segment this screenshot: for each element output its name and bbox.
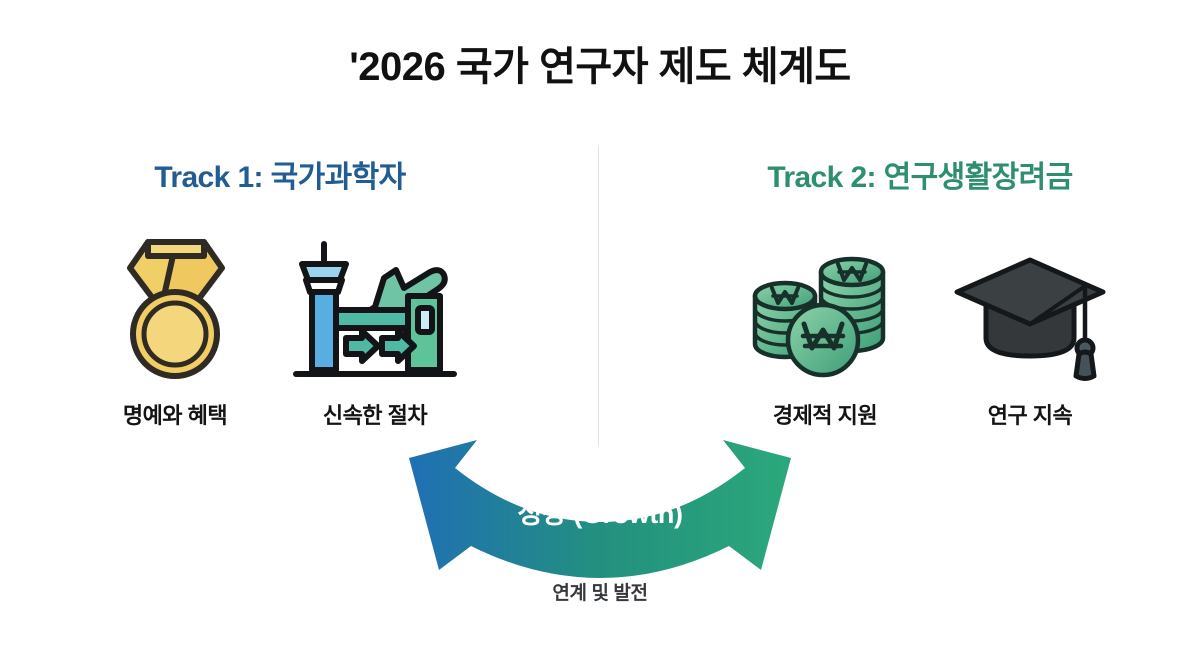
item-coins: 경제적 지원 [730, 232, 920, 430]
item-airport: 신속한 절차 [280, 232, 470, 430]
center-divider [598, 146, 599, 446]
item-graduation: 연구 지속 [935, 232, 1125, 430]
bidirectional-curved-arrow [395, 422, 805, 582]
item-medal: 명예와 혜택 [80, 232, 270, 430]
growth-caption: 연계 및 발전 [395, 578, 805, 605]
diagram-slide: '2026 국가 연구자 제도 체계도 Track 1: 국가과학자 Track… [0, 0, 1200, 670]
graduation-cap-icon [953, 234, 1108, 384]
medal-icon [110, 234, 240, 384]
medal-icon-box [80, 232, 270, 384]
track-2-header: Track 2: 연구생활장려금 [640, 152, 1200, 196]
graduation-icon-box [935, 232, 1125, 384]
airport-fasttrack-icon [288, 234, 463, 384]
page-title: '2026 국가 연구자 제도 체계도 [0, 34, 1200, 92]
graduation-caption: 연구 지속 [935, 398, 1125, 430]
medal-caption: 명예와 혜택 [80, 398, 270, 430]
coins-icon-box [730, 232, 920, 384]
coins-won-icon [743, 234, 908, 384]
growth-arrow-box [395, 422, 805, 582]
track-1-header: Track 1: 국가과학자 [0, 152, 560, 196]
airport-icon-box [280, 232, 470, 384]
